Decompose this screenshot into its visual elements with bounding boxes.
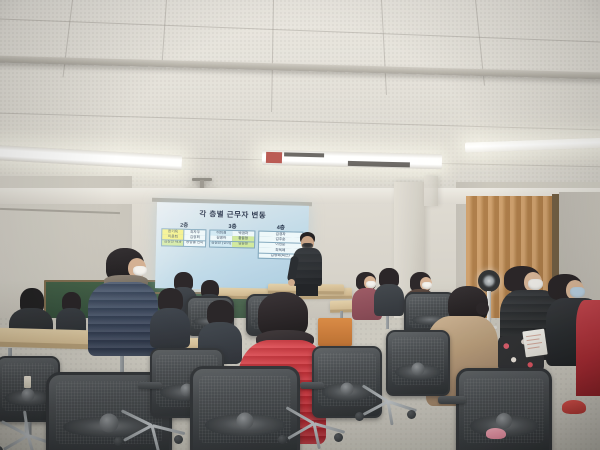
face-mask xyxy=(528,279,543,290)
attendee-back-right-2 xyxy=(374,268,404,314)
chair-base xyxy=(280,422,348,442)
chair-caster xyxy=(174,435,183,444)
jacket xyxy=(150,308,190,348)
pink-shoe xyxy=(486,428,506,439)
chair-base xyxy=(116,424,188,444)
hair-tie xyxy=(476,302,489,315)
chair-adjust-knob[interactable] xyxy=(237,412,254,429)
chair-armrest xyxy=(300,382,324,389)
chair-armrest xyxy=(438,396,466,404)
chair-caster xyxy=(355,412,364,421)
slide-block-1: 3층이미경박경자김명자황윤정김정란 (선미)김순정 xyxy=(209,221,255,258)
presenter-hand xyxy=(288,279,295,286)
structural-column-upper xyxy=(424,176,438,206)
training-room-photo: 각 층별 근무자 변동 2층한기옥최자우이윤희김정희김정선 내과송정율 선미3층… xyxy=(0,0,600,450)
slide-title: 각 층별 근무자 변동 xyxy=(162,207,304,221)
chair-adjust-knob[interactable] xyxy=(341,382,354,395)
chair-caster xyxy=(114,437,123,446)
floor-item xyxy=(24,376,31,388)
red-shoe xyxy=(562,400,586,414)
jacket xyxy=(374,284,404,316)
attendee-left-row2 xyxy=(150,288,190,344)
projector-arm xyxy=(200,180,204,188)
chair-caster xyxy=(407,410,416,419)
slide-cell: 송정율 선미 xyxy=(184,241,205,246)
slide-cell: 김정선 내과 xyxy=(162,240,183,245)
chair-adjust-knob[interactable] xyxy=(496,413,512,429)
navy-puffer-jacket xyxy=(88,282,158,356)
chair-backrest xyxy=(386,330,450,396)
slide-table-group: 2층한기옥최자우이윤희김정희김정선 내과송정율 선미3층이미경박경자김명자황윤정… xyxy=(161,220,304,260)
chair-caster xyxy=(0,446,3,450)
red-jacket xyxy=(576,300,600,396)
slide-block-grid: 이미경박경자김명자황윤정김정란 (선미)김순정 xyxy=(209,229,255,248)
chair-caster xyxy=(334,433,343,442)
chair-base xyxy=(357,400,419,418)
chair-caster xyxy=(278,435,287,444)
chair-adjust-knob[interactable] xyxy=(412,363,425,376)
slide-cell: 김정란 (선미) xyxy=(210,241,231,246)
slide-cell: 김순정 xyxy=(232,242,253,247)
slide-block-grid: 한기옥최자우이윤희김정희김정선 내과송정율 선미 xyxy=(161,228,207,247)
chair-right-mid xyxy=(386,330,450,396)
jacket-quilting xyxy=(88,282,158,356)
presenter-standing xyxy=(288,232,326,294)
attendee-far-right-red xyxy=(576,300,600,400)
slide-block-0: 2층한기옥최자우이윤희김정희김정선 내과송정율 선미 xyxy=(161,220,207,257)
handout-paper xyxy=(522,329,547,358)
face-mask xyxy=(570,287,585,298)
chair-armrest xyxy=(138,382,162,389)
